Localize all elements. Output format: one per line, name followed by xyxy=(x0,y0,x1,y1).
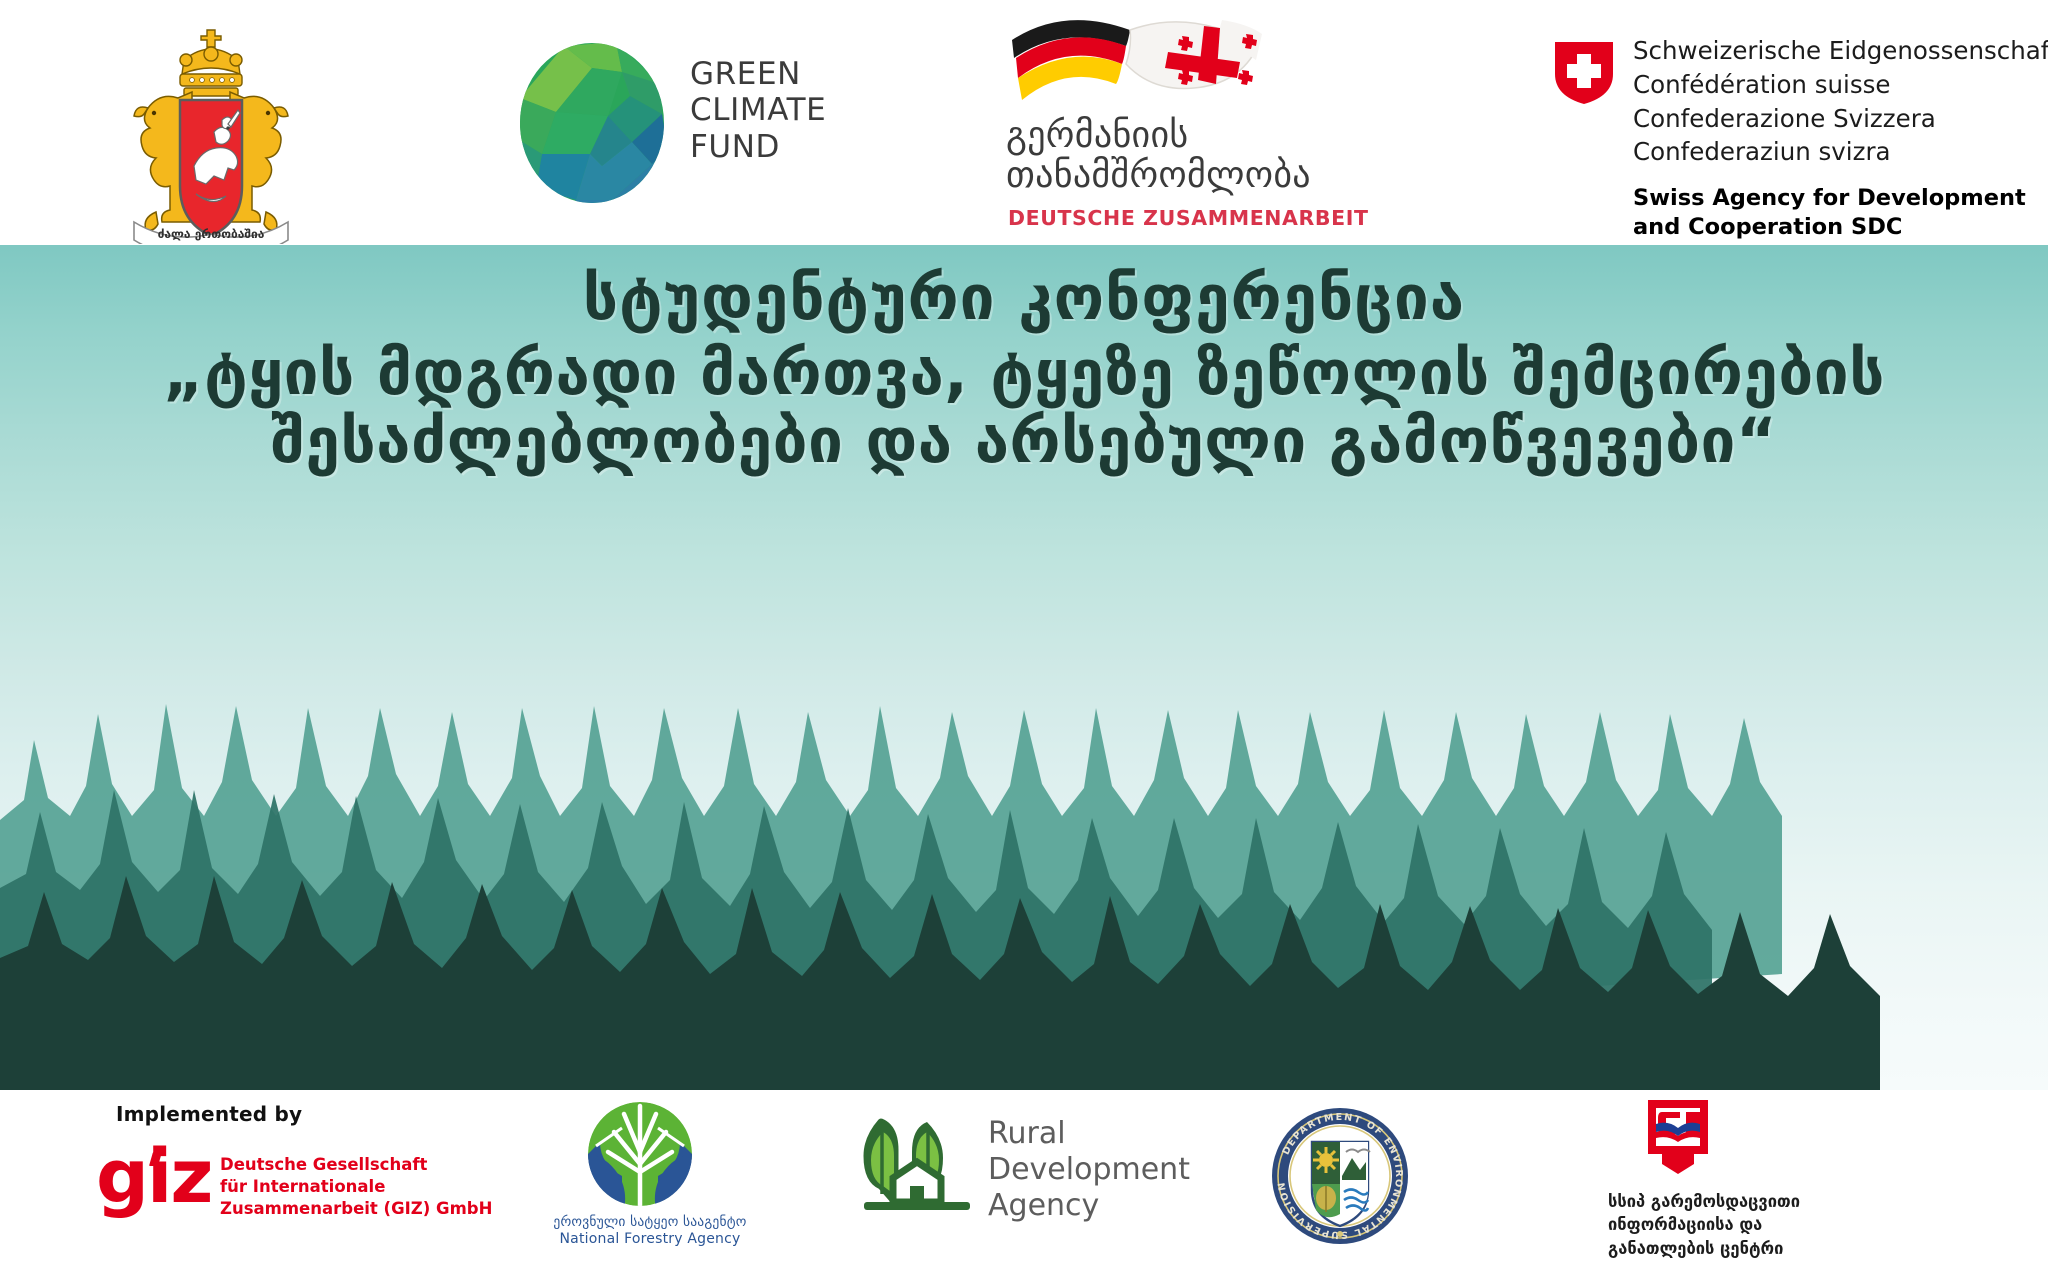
german-cooperation-logo: გერმანიის თანამშრომლობა DEUTSCHE ZUSAMME… xyxy=(990,8,1410,238)
sdc-bold-line-2: and Cooperation SDC xyxy=(1633,213,2026,242)
conference-poster: ძალა ერთობაშია xyxy=(0,0,2048,1271)
eiec-line-3: განათლების ცენტრი xyxy=(1608,1237,1886,1260)
giz-sub-line-1: Deutsche Gesellschaft xyxy=(220,1154,492,1176)
rda-line-3: Agency xyxy=(988,1188,1190,1224)
gcf-line-1: GREEN xyxy=(690,56,826,92)
rda-line-1: Rural xyxy=(988,1116,1190,1152)
rda-trees-house-icon xyxy=(862,1116,972,1214)
german-cooperation-de-wordmark: DEUTSCHE ZUSAMMENARBEIT xyxy=(1008,206,1369,230)
forestry-tree-circle-icon xyxy=(574,1102,706,1212)
sdc-bold-line-1: Swiss Agency for Development xyxy=(1633,184,2026,213)
hero-section: სტუდენტური კონფერენცია „ტყის მდგრადი მარ… xyxy=(0,245,2048,1090)
giz-logo: giz Deutsche Gesellschaft für Internatio… xyxy=(96,1148,426,1228)
forest-silhouette-illustration xyxy=(0,570,2048,1090)
swiss-confederation-names: Schweizerische Eidgenossenschaft Confédé… xyxy=(1633,34,2048,169)
swiss-cross-shield-icon xyxy=(1553,40,1615,106)
gc-ka-line-1: გერმანიის xyxy=(1006,116,1336,156)
eiec-book-shield-icon xyxy=(1646,1098,1710,1176)
germany-georgia-flags-icon xyxy=(990,8,1390,130)
national-forestry-agency-logo: ეროვნული სატყეო სააგენტო National Forest… xyxy=(530,1102,770,1267)
top-donor-bar: ძალა ერთობაშია xyxy=(0,0,2048,245)
rda-wordmark: Rural Development Agency xyxy=(988,1116,1190,1224)
swiss-line-3: Confederazione Svizzera xyxy=(1633,102,2048,136)
rural-development-agency-logo: Rural Development Agency xyxy=(862,1116,1192,1236)
giz-sub-line-2: für Internationale xyxy=(220,1176,492,1198)
german-cooperation-ka-wordmark: გერმანიის თანამშრომლობა xyxy=(1006,116,1336,195)
giz-sub-line-3: Zusammenarbeit (GIZ) GmbH xyxy=(220,1198,492,1220)
nfa-ka-name: ეროვნული სატყეო სააგენტო xyxy=(530,1214,770,1231)
title-line-2: „ტყის მდგრადი მართვა, ტყეზე ზეწოლის შემც… xyxy=(0,339,2048,407)
swiss-line-4: Confederaziun svizra xyxy=(1633,135,2048,169)
title-line-3: შესაძლებლობები და არსებული გამოწვევები“ xyxy=(0,407,2048,475)
department-of-environmental-supervision-logo: DEPARTMENT OF ENVIRONMENTAL SUPERVISION xyxy=(1266,1102,1414,1250)
title-line-1: სტუდენტური კონფერენცია xyxy=(0,265,2048,331)
gcf-sphere-icon xyxy=(512,38,672,208)
coat-of-arms-motto: ძალა ერთობაშია xyxy=(158,227,265,241)
gcf-line-3: FUND xyxy=(690,129,826,165)
bottom-partner-bar: Implemented by giz Deutsche Gesellschaft… xyxy=(0,1090,2048,1271)
eiec-line-2: ინფორმაციისა და xyxy=(1608,1213,1886,1236)
environmental-information-and-education-centre-logo: სსიპ გარემოსდაცვითი ინფორმაციისა და განა… xyxy=(1586,1098,1886,1268)
green-climate-fund-logo: GREEN CLIMATE FUND xyxy=(512,30,932,220)
rda-line-2: Development xyxy=(988,1152,1190,1188)
sdc-agency-name: Swiss Agency for Development and Coopera… xyxy=(1633,184,2026,243)
swiss-confederation-sdc-logo: Schweizerische Eidgenossenschaft Confédé… xyxy=(1553,34,2023,234)
gcf-wordmark: GREEN CLIMATE FUND xyxy=(690,56,826,165)
giz-subtitle: Deutsche Gesellschaft für Internationale… xyxy=(220,1154,492,1220)
eiec-line-1: სსიპ გარემოსდაცვითი xyxy=(1608,1190,1886,1213)
swiss-line-1: Schweizerische Eidgenossenschaft xyxy=(1633,34,2048,68)
georgia-coat-of-arms-logo: ძალა ერთობაშია xyxy=(96,16,326,244)
nfa-wordmark: ეროვნული სატყეო სააგენტო National Forest… xyxy=(530,1214,770,1248)
swiss-line-2: Confédération suisse xyxy=(1633,68,2048,102)
page-title: სტუდენტური კონფერენცია „ტყის მდგრადი მარ… xyxy=(0,265,2048,475)
gcf-line-2: CLIMATE xyxy=(690,92,826,128)
implemented-by-label: Implemented by xyxy=(116,1102,302,1126)
eiec-wordmark: სსიპ გარემოსდაცვითი ინფორმაციისა და განა… xyxy=(1586,1190,1886,1260)
nfa-en-name: National Forestry Agency xyxy=(530,1231,770,1249)
gc-ka-line-2: თანამშრომლობა xyxy=(1006,156,1336,196)
